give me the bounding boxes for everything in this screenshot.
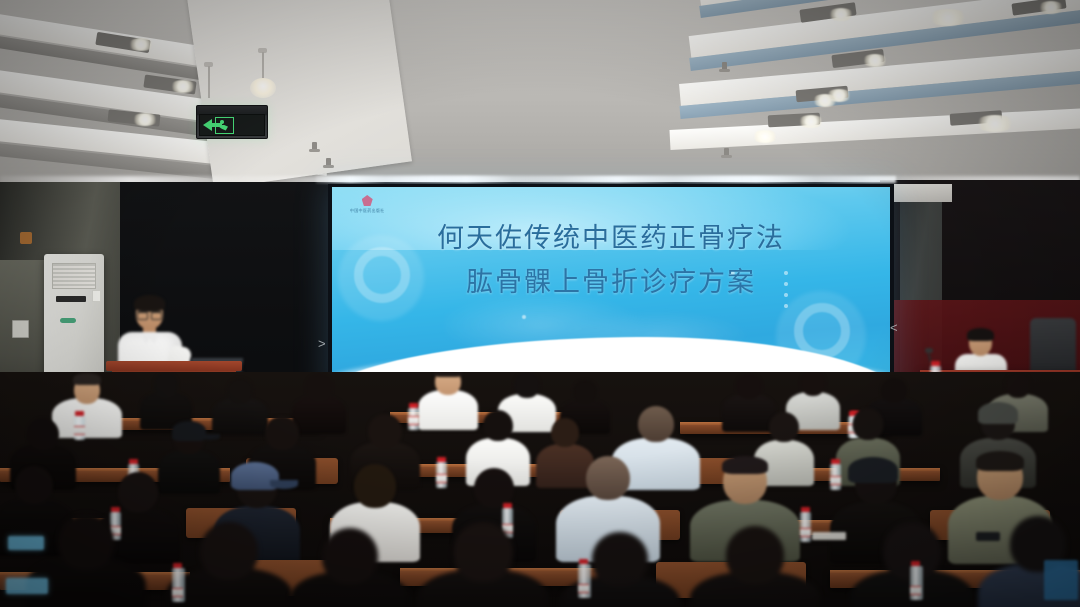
- person-hair: [354, 464, 396, 508]
- ac-display-panel: [56, 296, 86, 302]
- person-hair: [853, 408, 884, 440]
- bottle-cap: [911, 561, 920, 566]
- person-hair: [306, 374, 333, 401]
- person-hair: [976, 451, 1024, 471]
- audience-person: [418, 522, 548, 607]
- person-hair: [551, 418, 579, 447]
- sprinkler-head: [326, 158, 331, 167]
- ceiling-wash-light: [316, 176, 896, 183]
- audience-person: [140, 372, 192, 428]
- cap-hat: [978, 402, 1018, 424]
- bottle-cap: [111, 507, 120, 512]
- person-hair: [322, 528, 378, 584]
- water-bottle: [436, 462, 447, 488]
- slide-logo-mark-icon: [362, 195, 373, 206]
- person-hair: [154, 372, 178, 398]
- sprinkler-head: [724, 148, 729, 157]
- screen-right-marker: <: [890, 320, 898, 335]
- ac-label: [92, 290, 101, 302]
- bottle-label: [436, 474, 447, 483]
- tablet-screen: [6, 578, 48, 594]
- person-head: [638, 406, 674, 442]
- person-hair: [726, 526, 784, 584]
- person-hair: [73, 373, 101, 385]
- backpack: [1044, 560, 1078, 600]
- podium-top-edge: [106, 361, 242, 371]
- audience-area: [0, 372, 1080, 607]
- ac-grille: [52, 263, 96, 289]
- bottle-cap: [503, 503, 512, 508]
- downlight: [928, 9, 968, 26]
- ceiling-beam: [186, 0, 412, 186]
- bottle-cap: [409, 403, 418, 408]
- bottle-label: [578, 584, 589, 593]
- person-hair: [27, 418, 59, 450]
- person-hair: [722, 456, 768, 474]
- wall-switch[interactable]: [12, 320, 29, 338]
- sprinkler-head: [722, 62, 727, 71]
- downlight: [128, 38, 154, 51]
- bottle-cap: [579, 559, 588, 564]
- panelist-hair: [967, 328, 994, 341]
- person-hair: [881, 378, 907, 403]
- person-hair: [227, 378, 253, 404]
- bottle-cap: [931, 361, 940, 366]
- person-hair: [200, 522, 258, 580]
- bottle-cap: [437, 457, 446, 462]
- ac-brand-logo-icon: [60, 318, 76, 323]
- bottle-cap: [173, 563, 182, 568]
- person-hair: [801, 372, 826, 396]
- person-hair: [58, 514, 114, 570]
- downlight: [975, 115, 1015, 132]
- downlight: [828, 8, 854, 21]
- exit-arrow-left-icon: [203, 119, 212, 131]
- projection-screen: 中国中医药出版社 何天佐传统中医药正骨疗法 肱骨髁上骨折诊疗方案 主讲人：胡晓龙…: [332, 187, 890, 396]
- downlight: [862, 54, 888, 67]
- person-hair: [434, 372, 462, 377]
- person-hair: [474, 468, 514, 508]
- running-person-icon: [215, 117, 234, 134]
- bottle-cap: [75, 411, 84, 416]
- person-hair: [573, 380, 597, 404]
- screen-left-marker: >: [318, 336, 326, 351]
- downlight: [812, 94, 838, 107]
- water-bottle: [910, 566, 923, 600]
- person-hair: [514, 372, 540, 398]
- panel-chair: [1030, 318, 1076, 378]
- bottle-label: [172, 588, 183, 597]
- cap-brim: [200, 434, 220, 440]
- person-hair: [118, 472, 158, 512]
- bottle-cap: [801, 507, 810, 512]
- downlight: [1038, 1, 1064, 14]
- downlight: [132, 113, 158, 126]
- water-bottle: [172, 568, 185, 602]
- slide-decor-dot: [522, 315, 526, 319]
- projection-screen-frame: 中国中医药出版社 何天佐传统中医药正骨疗法 肱骨髁上骨折诊疗方案 主讲人：胡晓龙…: [328, 184, 894, 399]
- person-hair: [15, 466, 53, 504]
- audience-person: [690, 526, 820, 607]
- slide-subtitle: 肱骨髁上骨折诊疗方案: [466, 269, 756, 296]
- ceiling: [0, 0, 1080, 186]
- pendant-rod: [208, 66, 210, 98]
- person-hair: [1005, 372, 1031, 398]
- slide-logo-text: 中国中医药出版社: [350, 208, 385, 213]
- speaker-glasses: [137, 311, 162, 317]
- audience-person: [290, 528, 410, 607]
- downlight: [752, 130, 778, 143]
- slide-title-block: 何天佐传统中医药正骨疗法 肱骨髁上骨折诊疗方案: [332, 225, 890, 296]
- person-hair: [265, 416, 299, 450]
- cap-brim: [270, 480, 298, 489]
- cap-hat: [848, 457, 898, 483]
- water-bottle: [578, 564, 591, 598]
- speaker-hair: [134, 295, 165, 311]
- right-column-cap: [892, 184, 952, 202]
- bottle-cap: [129, 459, 138, 464]
- person-hair: [453, 522, 513, 582]
- person-hair: [736, 374, 762, 399]
- person-hair: [769, 412, 799, 442]
- conference-hall-photo: 中国中医药出版社 何天佐传统中医药正骨疗法 肱骨髁上骨折诊疗方案 主讲人：胡晓龙…: [0, 0, 1080, 607]
- wall-marker: [20, 232, 32, 244]
- pendant-lamp: [250, 78, 276, 98]
- person-head: [586, 456, 630, 500]
- sprinkler-head: [312, 142, 317, 151]
- person-hair: [368, 414, 402, 448]
- slide-title: 何天佐传统中医药正骨疗法: [437, 225, 785, 252]
- downlight: [798, 115, 824, 128]
- bottle-label: [910, 586, 921, 595]
- slide-logo: 中国中医药出版社: [348, 195, 386, 214]
- downlight: [170, 80, 196, 93]
- person-hair: [483, 410, 513, 441]
- pendant-rod: [262, 52, 264, 80]
- emergency-exit-sign: [196, 105, 268, 139]
- person-hair: [592, 532, 648, 586]
- microphone-head-icon: [925, 348, 933, 353]
- exit-sign-face: [199, 114, 265, 136]
